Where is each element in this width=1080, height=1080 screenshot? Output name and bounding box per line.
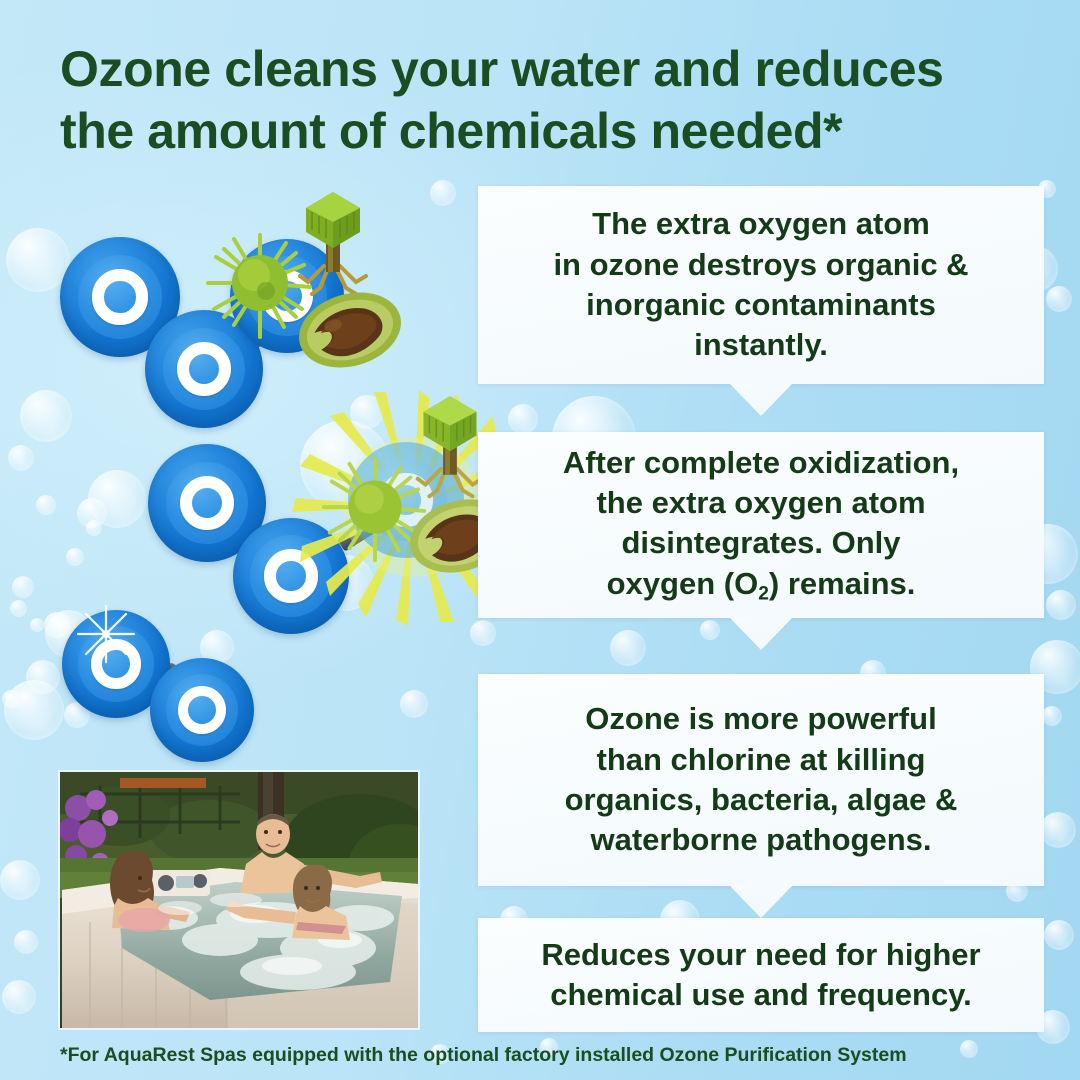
callout-box-4: Reduces your need for higher chemical us…: [478, 918, 1044, 1032]
callout-4-line-1: Reduces your need for higher: [502, 935, 1020, 975]
callout-2-line-4: oxygen (O2) remains.: [502, 564, 1020, 607]
callout-4-line-2: chemical use and frequency.: [502, 975, 1020, 1015]
oxygen-letter-o: [92, 269, 147, 324]
hot-tub-photo: [58, 770, 420, 1030]
oxygen-letter-o: [178, 686, 226, 734]
ozone-molecule-oxidizing: [148, 430, 478, 630]
callout-box-2: After complete oxidization, the extra ox…: [478, 432, 1044, 618]
callout-2-subscript: 2: [758, 583, 769, 604]
callout-1-line-1: The extra oxygen atom: [502, 204, 1020, 244]
callout-2-line-3: disintegrates. Only: [502, 523, 1020, 563]
callout-1-line-2: in ozone destroys organic &: [502, 245, 1020, 285]
callout-2-prefix: oxygen (O: [607, 566, 759, 601]
oxygen-letter-o: [180, 476, 234, 530]
callout-box-1: The extra oxygen atom in ozone destroys …: [478, 186, 1044, 384]
callout-3-line-3: organics, bacteria, algae &: [502, 780, 1020, 820]
ozone-molecule-o3: [60, 225, 390, 425]
footnote: *For AquaRest Spas equipped with the opt…: [60, 1044, 907, 1067]
callout-3-line-1: Ozone is more powerful: [502, 699, 1020, 739]
callout-3-line-2: than chlorine at killing: [502, 740, 1020, 780]
callout-1-line-3: inorganic contaminants: [502, 285, 1020, 325]
oxygen-molecule-o2: [62, 608, 312, 758]
title-line-1: Ozone cleans your water and reduces: [60, 38, 1050, 100]
callout-box-3: Ozone is more powerful than chlorine at …: [478, 674, 1044, 886]
callout-2-line-1: After complete oxidization,: [502, 443, 1020, 483]
oxygen-letter-o: [91, 639, 141, 689]
bacterium-icon: [295, 287, 405, 373]
callout-3-line-4: waterborne pathogens.: [502, 820, 1020, 860]
oxygen-letter-o: [264, 549, 317, 602]
callout-2-suffix: ) remains.: [769, 566, 915, 601]
oxygen-atom-2: [150, 658, 254, 762]
callout-1-notch: [730, 384, 792, 416]
callout-1-line-4: instantly.: [502, 325, 1020, 365]
page-title: Ozone cleans your water and reduces the …: [60, 38, 1050, 162]
callout-2-notch: [730, 618, 792, 650]
title-line-2: the amount of chemicals needed*: [60, 100, 1050, 162]
callout-2-line-2: the extra oxygen atom: [502, 483, 1020, 523]
oxygen-letter-o: [177, 342, 231, 396]
infographic-canvas: Ozone cleans your water and reduces the …: [0, 0, 1080, 1080]
callout-3-notch: [730, 886, 792, 918]
